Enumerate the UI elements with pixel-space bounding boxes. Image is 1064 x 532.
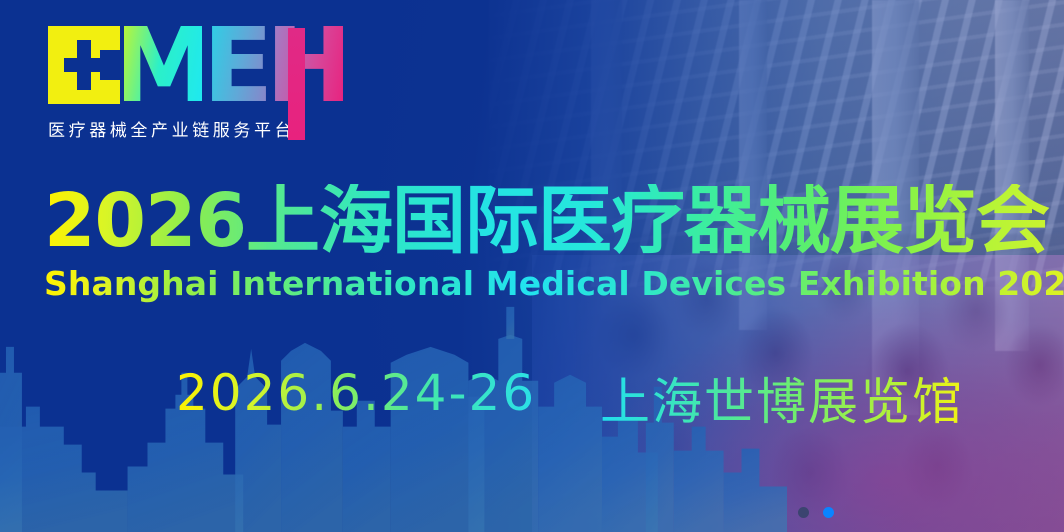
headline-block: 2026上海国际医疗器械展览会 Shanghai International M… — [44, 184, 1064, 303]
carousel-dot-2[interactable] — [823, 507, 834, 518]
exhibition-banner: M E H 医疗器械全产业链服务平台 2026上海国际医疗器械展览会 Shang… — [0, 0, 1064, 532]
carousel-dot-1[interactable] — [798, 507, 809, 518]
event-venue: 上海世博展览馆 — [600, 362, 964, 434]
logo-letter-c-medical-cross-icon — [48, 26, 120, 104]
logo-letter-m: M — [124, 26, 202, 104]
page-title-english: Shanghai International Medical Devices E… — [44, 264, 1064, 303]
event-date: 2026.6.24-26 — [176, 364, 536, 422]
logo-accent-bar — [288, 28, 305, 140]
logo-letter-h: H — [272, 26, 344, 104]
page-title-chinese: 2026上海国际医疗器械展览会 — [44, 184, 1064, 258]
logo-letter-e: E — [202, 26, 272, 104]
carousel-indicators[interactable] — [798, 507, 834, 518]
